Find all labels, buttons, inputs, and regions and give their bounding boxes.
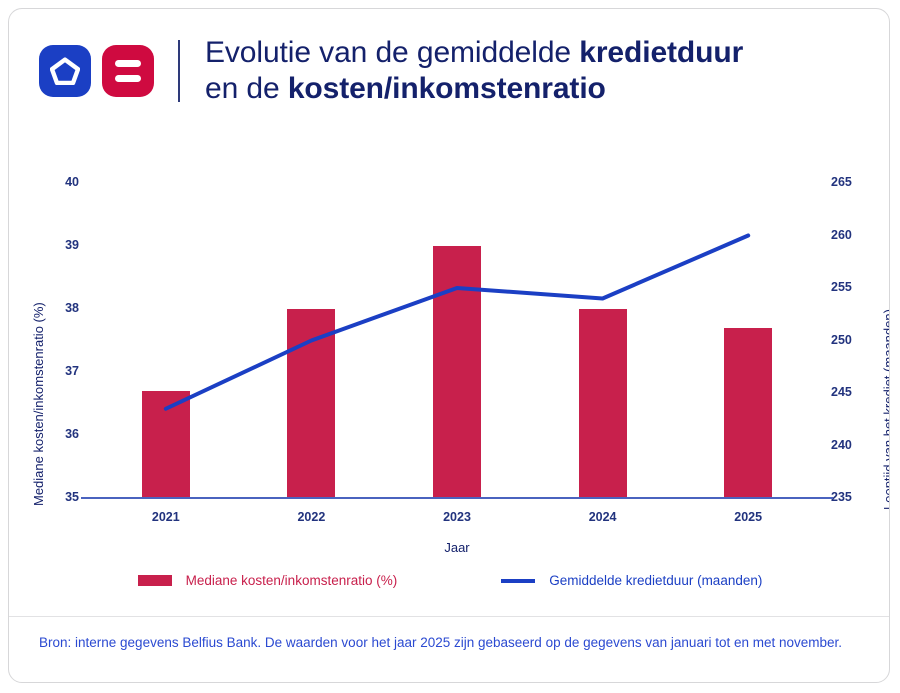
x-axis-tick-2022: 2022 [276,510,346,524]
legend-label-line: Gemiddelde kredietduur (maanden) [549,573,762,588]
chart-card: Evolutie van de gemiddelde kredietduur e… [8,8,890,683]
x-axis-tick-2021: 2021 [131,510,201,524]
legend-item-bars[interactable]: Mediane kosten/inkomstenratio (%) [138,573,398,588]
legend-label-bars: Mediane kosten/inkomstenratio (%) [186,573,398,588]
legend-item-line[interactable]: Gemiddelde kredietduur (maanden) [501,573,762,588]
x-axis-tick-2025: 2025 [713,510,783,524]
line-series-kredietduur[interactable] [166,236,748,409]
source-note: Bron: interne gegevens Belfius Bank. De … [39,631,859,654]
legend-swatch-line-icon [501,579,535,583]
x-axis-tick-2023: 2023 [422,510,492,524]
legend-swatch-bar-icon [138,575,172,586]
x-axis-title: Jaar [397,540,517,555]
footer-divider [9,616,890,617]
chart-legend: Mediane kosten/inkomstenratio (%) Gemidd… [9,573,890,588]
x-axis-tick-2024: 2024 [568,510,638,524]
